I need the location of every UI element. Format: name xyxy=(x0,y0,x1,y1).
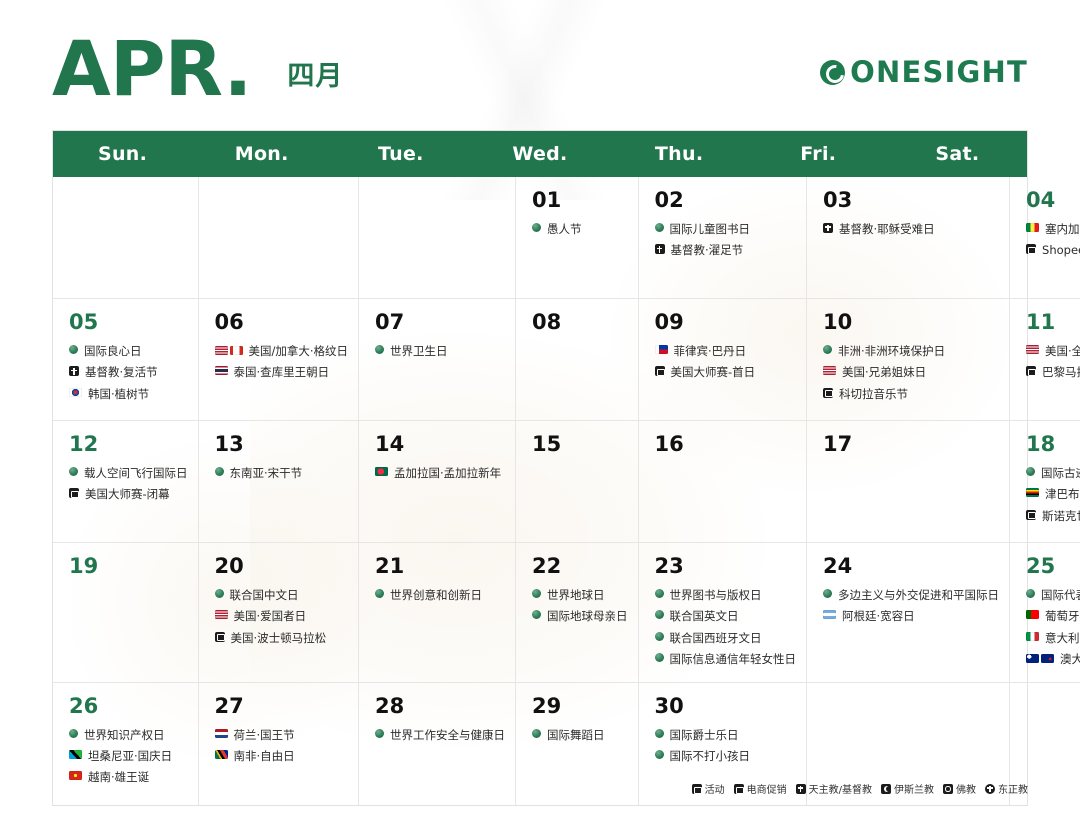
un-day-icon xyxy=(655,729,664,738)
weekday-header-3: Wed. xyxy=(470,131,609,177)
event-icon xyxy=(1026,510,1036,520)
event-item[interactable]: 世界创意和创新日 xyxy=(375,588,505,602)
day-number: 14 xyxy=(375,434,505,455)
day-number: 01 xyxy=(532,190,628,211)
brand-name: ONESIGHT xyxy=(850,55,1028,89)
day-number: 24 xyxy=(823,556,999,577)
day-number: 12 xyxy=(69,434,188,455)
day-cell-15[interactable]: 15 xyxy=(516,421,639,543)
event-icon xyxy=(655,366,665,376)
un-day-icon xyxy=(69,467,78,476)
un-day-icon xyxy=(375,589,384,598)
event-label: 塞内加尔·国庆日 xyxy=(1045,222,1080,236)
un-day-icon xyxy=(532,729,541,738)
event-label: Shopee 4·4大促 xyxy=(1042,243,1080,257)
flag-australia-icon xyxy=(1026,654,1039,663)
day-number: 16 xyxy=(655,434,797,455)
event-label: 美国大师赛-首日 xyxy=(671,365,756,379)
event-label: 津巴布韦·独立日 xyxy=(1045,487,1080,501)
day-cell-12[interactable]: 12载人空间飞行国际日美国大师赛-闭幕 xyxy=(53,421,199,543)
event-label: 国际爵士乐日 xyxy=(670,728,739,742)
day-cell-11[interactable]: 11美国·全国宠物日巴黎马拉松 xyxy=(1010,299,1080,421)
event-item[interactable]: 美国·波士顿马拉松 xyxy=(215,631,349,645)
event-label: 基督教·耶稣受难日 xyxy=(839,222,935,236)
event-label: 国际良心日 xyxy=(84,344,142,358)
orthodox-icon xyxy=(985,784,995,794)
day-number: 06 xyxy=(215,312,349,333)
day-number: 11 xyxy=(1026,312,1080,333)
flag-philippines-icon xyxy=(655,345,668,354)
event-item[interactable]: 世界知识产权日 xyxy=(69,728,188,742)
event-item[interactable]: 意大利·解放日 xyxy=(1026,631,1080,645)
event-label: 基督教·复活节 xyxy=(85,365,158,379)
day-cell-05[interactable]: 05国际良心日基督教·复活节韩国·植树节 xyxy=(53,299,199,421)
event-item[interactable]: 美国·爱国者日 xyxy=(215,609,349,623)
day-number: 28 xyxy=(375,696,505,717)
day-number: 02 xyxy=(655,190,797,211)
event-label: 世界卫生日 xyxy=(390,344,448,358)
day-cell-empty[interactable] xyxy=(199,177,360,299)
event-label: 美国·爱国者日 xyxy=(234,609,307,623)
day-cell-16[interactable]: 16 xyxy=(639,421,808,543)
day-cell-25[interactable]: 25国际代表日葡萄牙·自由日意大利·解放日澳大利亚/新西兰·澳新军团日 xyxy=(1010,543,1080,683)
day-cell-06[interactable]: 06美国/加拿大·格纹日泰国·查库里王朝日 xyxy=(199,299,360,421)
legend-item: 佛教 xyxy=(943,781,976,796)
event-item[interactable]: 塞内加尔·国庆日 xyxy=(1026,222,1080,236)
cross-icon xyxy=(69,366,79,376)
un-day-icon xyxy=(69,729,78,738)
month-label-en: APR. xyxy=(52,38,251,100)
flag-usa-icon xyxy=(823,366,836,375)
event-item[interactable]: 联合国英文日 xyxy=(655,609,797,623)
event-icon xyxy=(215,632,225,642)
event-item[interactable]: 世界工作安全与健康日 xyxy=(375,728,505,742)
event-label: 美国/加拿大·格纹日 xyxy=(249,344,349,358)
buddhism-icon xyxy=(943,784,953,794)
day-cell-19[interactable]: 19 xyxy=(53,543,199,683)
event-item[interactable]: 世界图书与版权日 xyxy=(655,588,797,602)
event-item[interactable]: 坦桑尼亚·国庆日 xyxy=(69,749,188,763)
event-item[interactable]: 越南·雄王诞 xyxy=(69,770,188,784)
event-item[interactable]: 科切拉音乐节 xyxy=(823,387,999,401)
legend-label: 电商促销 xyxy=(747,781,787,796)
event-label: 国际儿童图书日 xyxy=(670,222,751,236)
event-label: 世界创意和创新日 xyxy=(390,588,482,602)
legend-label: 天主教/基督教 xyxy=(809,781,872,796)
day-cell-23[interactable]: 23世界图书与版权日联合国英文日联合国西班牙文日国际信息通信年轻女性日 xyxy=(639,543,808,683)
event-label: 葡萄牙·自由日 xyxy=(1045,609,1080,623)
event-item[interactable]: 菲律宾·巴丹日 xyxy=(655,344,797,358)
un-day-icon xyxy=(69,345,78,354)
flag-tanzania-icon xyxy=(69,750,82,759)
event-label: 坦桑尼亚·国庆日 xyxy=(88,749,172,763)
day-cell-07[interactable]: 07世界卫生日 xyxy=(359,299,516,421)
event-item[interactable]: 国际古迹遗址日 xyxy=(1026,466,1080,480)
day-number: 17 xyxy=(823,434,999,455)
event-item[interactable]: 美国/加拿大·格纹日 xyxy=(215,344,349,358)
event-label: 东南亚·宋干节 xyxy=(230,466,303,480)
day-number: 19 xyxy=(69,556,188,577)
event-item[interactable]: 葡萄牙·自由日 xyxy=(1026,609,1080,623)
event-item[interactable]: 东南亚·宋干节 xyxy=(215,466,349,480)
day-cell-empty[interactable] xyxy=(359,177,516,299)
day-cell-03[interactable]: 03基督教·耶稣受难日 xyxy=(807,177,1010,299)
un-day-icon xyxy=(215,467,224,476)
event-label: 世界图书与版权日 xyxy=(670,588,762,602)
flag-netherlands-icon xyxy=(215,729,228,738)
event-label: 泰国·查库里王朝日 xyxy=(234,365,330,379)
day-cell-18[interactable]: 18国际古迹遗址日津巴布韦·独立日斯诺克世锦赛正赛 xyxy=(1010,421,1080,543)
day-cell-26[interactable]: 26世界知识产权日坦桑尼亚·国庆日越南·雄王诞 xyxy=(53,683,199,805)
cross-icon xyxy=(823,223,833,233)
flag-usa-icon xyxy=(215,610,228,619)
event-item[interactable]: 联合国中文日 xyxy=(215,588,349,602)
event-label: 国际不打小孩日 xyxy=(670,749,751,763)
ecommerce-promo-icon xyxy=(734,784,744,794)
event-item[interactable]: 阿根廷·宽容日 xyxy=(823,609,999,623)
day-number: 20 xyxy=(215,556,349,577)
flag-newzealand-icon xyxy=(1041,654,1054,663)
event-item[interactable]: 联合国西班牙文日 xyxy=(655,631,797,645)
day-number: 03 xyxy=(823,190,999,211)
islam-icon xyxy=(881,784,891,794)
event-item[interactable]: 国际儿童图书日 xyxy=(655,222,797,236)
day-cell-24[interactable]: 24多边主义与外交促进和平国际日阿根廷·宽容日 xyxy=(807,543,1010,683)
event-label: 科切拉音乐节 xyxy=(839,387,908,401)
flag-vietnam-icon xyxy=(69,771,82,780)
legend-item: 活动 xyxy=(692,781,725,796)
un-day-icon xyxy=(655,653,664,662)
un-day-icon xyxy=(655,750,664,759)
event-item[interactable]: 载人空间飞行国际日 xyxy=(69,466,188,480)
event-item[interactable]: 世界地球日 xyxy=(532,588,628,602)
event-item[interactable]: 美国·全国宠物日 xyxy=(1026,344,1080,358)
day-cell-14[interactable]: 14孟加拉国·孟加拉新年 xyxy=(359,421,516,543)
calendar-grid: 01愚人节02国际儿童图书日基督教·濯足节03基督教·耶稣受难日04塞内加尔·国… xyxy=(53,177,1027,805)
flag-italy-icon xyxy=(1026,632,1039,641)
event-item[interactable]: 国际爵士乐日 xyxy=(655,728,797,742)
day-cell-17[interactable]: 17 xyxy=(807,421,1010,543)
event-label: 美国·波士顿马拉松 xyxy=(231,631,327,645)
event-item[interactable]: 国际良心日 xyxy=(69,344,188,358)
event-item[interactable]: 南非·自由日 xyxy=(215,749,349,763)
event-label: 非洲·非洲环境保护日 xyxy=(838,344,945,358)
day-number: 04 xyxy=(1026,190,1080,211)
event-item[interactable]: 泰国·查库里王朝日 xyxy=(215,365,349,379)
day-number: 27 xyxy=(215,696,349,717)
day-cell-13[interactable]: 13东南亚·宋干节 xyxy=(199,421,360,543)
flag-pair xyxy=(1026,653,1054,663)
event-item[interactable]: 国际舞蹈日 xyxy=(532,728,628,742)
event-item[interactable]: 基督教·濯足节 xyxy=(655,243,797,257)
weekday-header-5: Fri. xyxy=(749,131,888,177)
event-item[interactable]: 非洲·非洲环境保护日 xyxy=(823,344,999,358)
day-cell-29[interactable]: 29国际舞蹈日 xyxy=(516,683,639,805)
day-cell-20[interactable]: 20联合国中文日美国·爱国者日美国·波士顿马拉松 xyxy=(199,543,360,683)
event-item[interactable]: 国际不打小孩日 xyxy=(655,749,797,763)
event-item[interactable]: Shopee 4·4大促 xyxy=(1026,243,1080,257)
legend: 活动电商促销天主教/基督教伊斯兰教佛教东正教 xyxy=(692,781,1028,796)
flag-southafrica-icon xyxy=(215,750,228,759)
page-header: APR. 四月 ONESIGHT xyxy=(0,0,1080,130)
un-day-icon xyxy=(375,729,384,738)
event-item[interactable]: 美国大师赛-首日 xyxy=(655,365,797,379)
un-day-icon xyxy=(655,610,664,619)
event-label: 联合国西班牙文日 xyxy=(670,631,762,645)
day-number: 21 xyxy=(375,556,505,577)
event-item[interactable]: 多边主义与外交促进和平国际日 xyxy=(823,588,999,602)
event-label: 多边主义与外交促进和平国际日 xyxy=(838,588,999,602)
un-day-icon xyxy=(655,223,664,232)
event-item[interactable]: 孟加拉国·孟加拉新年 xyxy=(375,466,505,480)
un-day-icon xyxy=(823,345,832,354)
day-cell-28[interactable]: 28世界工作安全与健康日 xyxy=(359,683,516,805)
event-item[interactable]: 津巴布韦·独立日 xyxy=(1026,487,1080,501)
event-label: 美国·兄弟姐妹日 xyxy=(842,365,926,379)
event-label: 孟加拉国·孟加拉新年 xyxy=(394,466,501,480)
flag-bangladesh-icon xyxy=(375,467,388,476)
event-label: 国际信息通信年轻女性日 xyxy=(670,652,797,666)
un-day-icon xyxy=(823,589,832,598)
day-cell-08[interactable]: 08 xyxy=(516,299,639,421)
weekday-header-0: Sun. xyxy=(53,131,192,177)
weekday-header-row: Sun.Mon.Tue.Wed.Thu.Fri.Sat. xyxy=(53,131,1027,177)
event-item[interactable]: 荷兰·国王节 xyxy=(215,728,349,742)
flag-zimbabwe-icon xyxy=(1026,488,1039,497)
legend-item: 东正教 xyxy=(985,781,1028,796)
flag-portugal-icon xyxy=(1026,610,1039,619)
day-number: 26 xyxy=(69,696,188,717)
legend-label: 伊斯兰教 xyxy=(894,781,934,796)
flag-pair xyxy=(215,345,243,355)
day-cell-10[interactable]: 10非洲·非洲环境保护日美国·兄弟姐妹日科切拉音乐节 xyxy=(807,299,1010,421)
event-icon xyxy=(823,388,833,398)
event-label: 巴黎马拉松 xyxy=(1042,365,1080,379)
legend-label: 东正教 xyxy=(998,781,1028,796)
page-title: APR. 四月 xyxy=(52,38,343,100)
event-label: 意大利·解放日 xyxy=(1045,631,1080,645)
weekday-header-2: Tue. xyxy=(331,131,470,177)
event-label: 联合国中文日 xyxy=(230,588,299,602)
un-day-icon xyxy=(215,589,224,598)
flag-thailand-icon xyxy=(215,366,228,375)
flag-canada-icon xyxy=(230,346,243,355)
weekday-header-4: Thu. xyxy=(610,131,749,177)
legend-item: 伊斯兰教 xyxy=(881,781,934,796)
un-day-icon xyxy=(375,345,384,354)
weekday-header-1: Mon. xyxy=(192,131,331,177)
onesight-logo-icon xyxy=(820,60,845,85)
event-label: 荷兰·国王节 xyxy=(234,728,295,742)
day-number: 07 xyxy=(375,312,505,333)
event-label: 阿根廷·宽容日 xyxy=(842,609,915,623)
day-number: 13 xyxy=(215,434,349,455)
event-item[interactable]: 国际地球母亲日 xyxy=(532,609,628,623)
flag-usa-icon xyxy=(1026,345,1039,354)
day-cell-04[interactable]: 04塞内加尔·国庆日Shopee 4·4大促 xyxy=(1010,177,1080,299)
legend-item: 电商促销 xyxy=(734,781,787,796)
legend-label: 活动 xyxy=(705,781,725,796)
event-label: 斯诺克世锦赛正赛 xyxy=(1042,509,1080,523)
cross-icon xyxy=(796,784,806,794)
event-label: 澳大利亚/新西兰·澳新军团日 xyxy=(1060,652,1080,666)
event-label: 国际地球母亲日 xyxy=(547,609,628,623)
event-label: 愚人节 xyxy=(547,222,582,236)
event-item[interactable]: 国际代表日 xyxy=(1026,588,1080,602)
un-day-icon xyxy=(1026,589,1035,598)
event-item[interactable]: 基督教·复活节 xyxy=(69,365,188,379)
day-cell-01[interactable]: 01愚人节 xyxy=(516,177,639,299)
event-label: 国际古迹遗址日 xyxy=(1041,466,1080,480)
event-label: 越南·雄王诞 xyxy=(88,770,149,784)
event-label: 联合国英文日 xyxy=(670,609,739,623)
event-label: 世界地球日 xyxy=(547,588,605,602)
event-item[interactable]: 国际信息通信年轻女性日 xyxy=(655,652,797,666)
day-number: 22 xyxy=(532,556,628,577)
event-label: 美国大师赛-闭幕 xyxy=(85,487,170,501)
event-label: 国际代表日 xyxy=(1041,588,1080,602)
un-day-icon xyxy=(655,632,664,641)
day-number: 29 xyxy=(532,696,628,717)
event-item[interactable]: 斯诺克世锦赛正赛 xyxy=(1026,509,1080,523)
un-day-icon xyxy=(532,589,541,598)
brand-logo: ONESIGHT xyxy=(820,55,1028,89)
day-number: 15 xyxy=(532,434,628,455)
day-number: 25 xyxy=(1026,556,1080,577)
event-item[interactable]: 韩国·植树节 xyxy=(69,387,188,401)
calendar: Sun.Mon.Tue.Wed.Thu.Fri.Sat. 01愚人节02国际儿童… xyxy=(52,130,1028,806)
flag-argentina-icon xyxy=(823,610,836,619)
flag-korea-icon xyxy=(69,388,82,397)
day-number: 05 xyxy=(69,312,188,333)
cross-icon xyxy=(655,244,665,254)
un-day-icon xyxy=(532,223,541,232)
event-label: 菲律宾·巴丹日 xyxy=(674,344,747,358)
day-cell-empty[interactable] xyxy=(53,177,199,299)
event-item[interactable]: 基督教·耶稣受难日 xyxy=(823,222,999,236)
flag-senegal-icon xyxy=(1026,223,1039,232)
event-label: 国际舞蹈日 xyxy=(547,728,605,742)
event-item[interactable]: 世界卫生日 xyxy=(375,344,505,358)
event-icon xyxy=(1026,366,1036,376)
day-number: 08 xyxy=(532,312,628,333)
event-item[interactable]: 美国大师赛-闭幕 xyxy=(69,487,188,501)
event-label: 世界知识产权日 xyxy=(84,728,165,742)
day-cell-02[interactable]: 02国际儿童图书日基督教·濯足节 xyxy=(639,177,808,299)
day-cell-09[interactable]: 09菲律宾·巴丹日美国大师赛-首日 xyxy=(639,299,808,421)
event-item[interactable]: 愚人节 xyxy=(532,222,628,236)
un-day-icon xyxy=(1026,467,1035,476)
day-number: 30 xyxy=(655,696,797,717)
event-label: 美国·全国宠物日 xyxy=(1045,344,1080,358)
day-number: 18 xyxy=(1026,434,1080,455)
ecommerce-promo-icon xyxy=(1026,244,1036,254)
day-cell-21[interactable]: 21世界创意和创新日 xyxy=(359,543,516,683)
event-item[interactable]: 巴黎马拉松 xyxy=(1026,365,1080,379)
event-label: 基督教·濯足节 xyxy=(671,243,744,257)
day-number: 10 xyxy=(823,312,999,333)
event-label: 世界工作安全与健康日 xyxy=(390,728,505,742)
legend-item: 天主教/基督教 xyxy=(796,781,872,796)
day-number: 23 xyxy=(655,556,797,577)
un-day-icon xyxy=(655,589,664,598)
month-label-cn: 四月 xyxy=(287,54,343,93)
event-label: 南非·自由日 xyxy=(234,749,295,763)
event-label: 载人空间飞行国际日 xyxy=(84,466,188,480)
day-number: 09 xyxy=(655,312,797,333)
flag-usa-icon xyxy=(215,346,228,355)
weekday-header-6: Sat. xyxy=(888,131,1027,177)
event-item[interactable]: 美国·兄弟姐妹日 xyxy=(823,365,999,379)
event-icon xyxy=(69,488,79,498)
event-label: 韩国·植树节 xyxy=(88,387,149,401)
day-cell-27[interactable]: 27荷兰·国王节南非·自由日 xyxy=(199,683,360,805)
event-icon xyxy=(692,784,702,794)
event-item[interactable]: 澳大利亚/新西兰·澳新军团日 xyxy=(1026,652,1080,666)
day-cell-22[interactable]: 22世界地球日国际地球母亲日 xyxy=(516,543,639,683)
legend-label: 佛教 xyxy=(956,781,976,796)
un-day-icon xyxy=(532,610,541,619)
